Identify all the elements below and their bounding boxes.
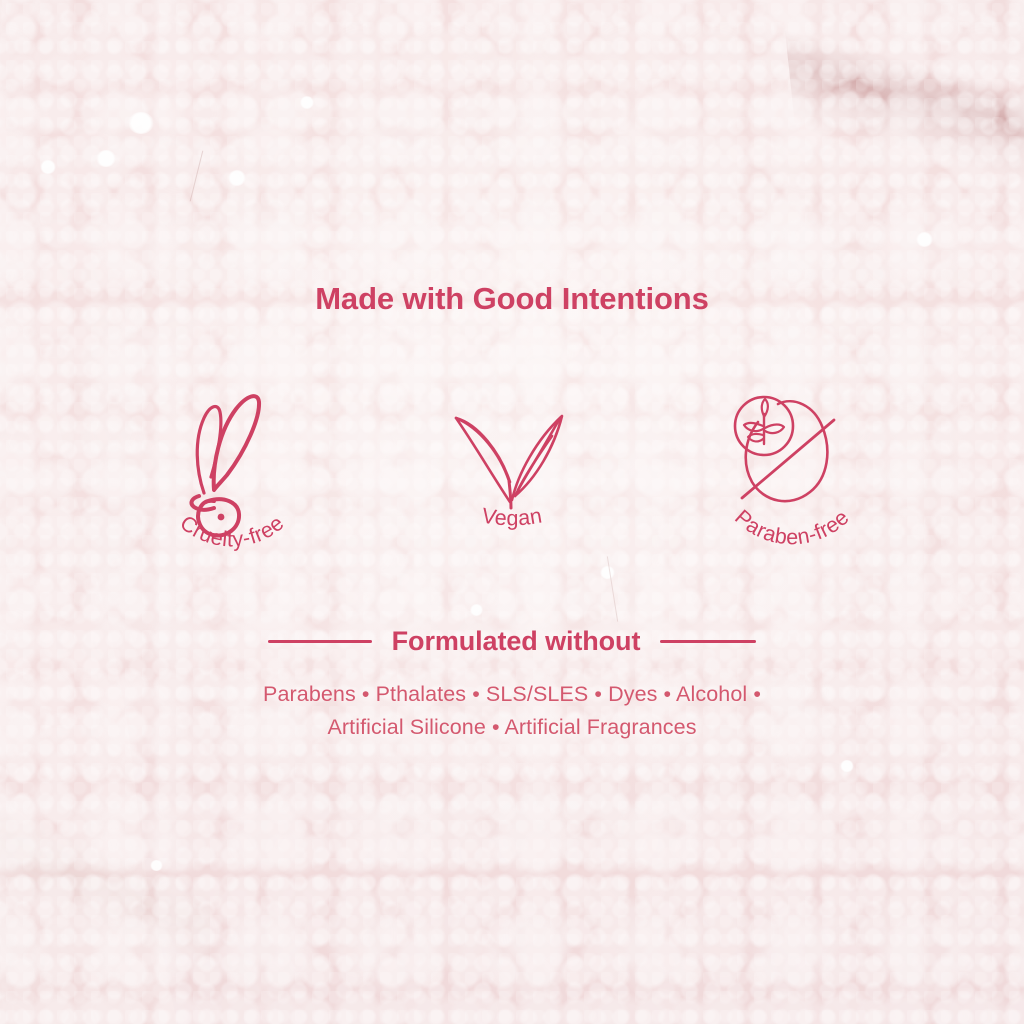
badge-label-cruelty-free: Cruelty-free	[175, 511, 288, 552]
badge-label-vegan: Vegan	[480, 503, 544, 530]
excluded-ingredients-list: Parabens • Pthalates • SLS/SLES • Dyes •…	[0, 678, 1024, 744]
excluded-ingredients-line-2: Artificial Silicone • Artificial Fragran…	[0, 711, 1024, 744]
sprout-circle-icon	[735, 397, 793, 455]
bunny-icon	[192, 396, 260, 535]
badge-cruelty-free: Cruelty-free	[142, 378, 322, 553]
promo-graphic: Made with Good Intentions	[0, 0, 1024, 1024]
badge-vegan: Vegan	[422, 378, 602, 553]
leaves-icon	[456, 416, 562, 508]
divider-rule-right	[660, 640, 756, 643]
divider-title: Formulated without	[392, 626, 641, 657]
divider-rule-left	[268, 640, 372, 643]
formulated-without-divider: Formulated without	[0, 626, 1024, 657]
badge-row: Cruelty-free	[0, 378, 1024, 553]
badge-label-paraben-free: Paraben-free	[730, 505, 854, 549]
badge-paraben-free: Paraben-free	[702, 378, 882, 553]
page-title: Made with Good Intentions	[0, 281, 1024, 317]
excluded-ingredients-line-1: Parabens • Pthalates • SLS/SLES • Dyes •…	[0, 678, 1024, 711]
